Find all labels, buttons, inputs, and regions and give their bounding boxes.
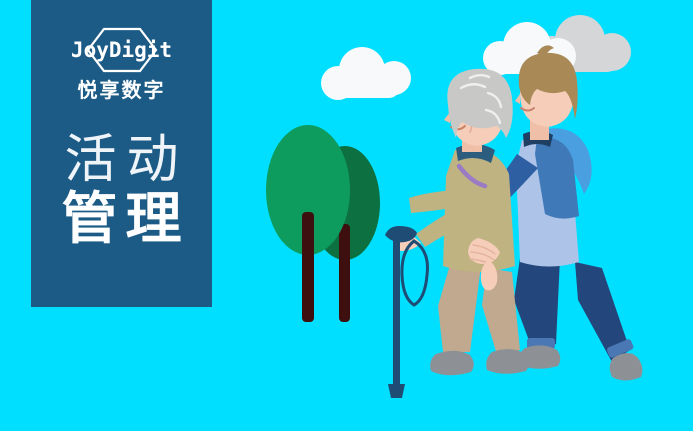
logo-chinese-name: 悦享数字 xyxy=(78,81,166,101)
elder-front-shoe xyxy=(430,351,474,376)
caregiver-rear-shoe xyxy=(610,353,643,381)
title-line-1: 活动 xyxy=(54,131,190,189)
page-title: 活动 管理 xyxy=(54,131,190,252)
caregiver-front-leg xyxy=(514,258,560,346)
elder-rear-shoe xyxy=(486,349,529,374)
elderly-woman xyxy=(395,69,529,376)
banner-canvas: JoyDigit 悦享数字 活动 管理 xyxy=(0,0,693,431)
elder-front-leg xyxy=(438,266,481,352)
tree-front xyxy=(266,125,350,322)
cane-tip xyxy=(388,384,405,398)
elder-hair xyxy=(447,69,512,138)
caregiver-nose xyxy=(515,94,520,104)
logo-wordmark: JoyDigit xyxy=(60,26,184,74)
logo-block: JoyDigit 悦享数字 xyxy=(60,26,184,101)
cloud-left xyxy=(321,47,411,100)
title-line-2: 管理 xyxy=(54,189,190,252)
cane-strap xyxy=(402,241,428,305)
walking-cane xyxy=(385,226,427,398)
left-title-panel: JoyDigit 悦享数字 活动 管理 xyxy=(31,0,212,307)
cane-shaft xyxy=(393,241,400,384)
logo-mark: JoyDigit xyxy=(60,26,184,74)
